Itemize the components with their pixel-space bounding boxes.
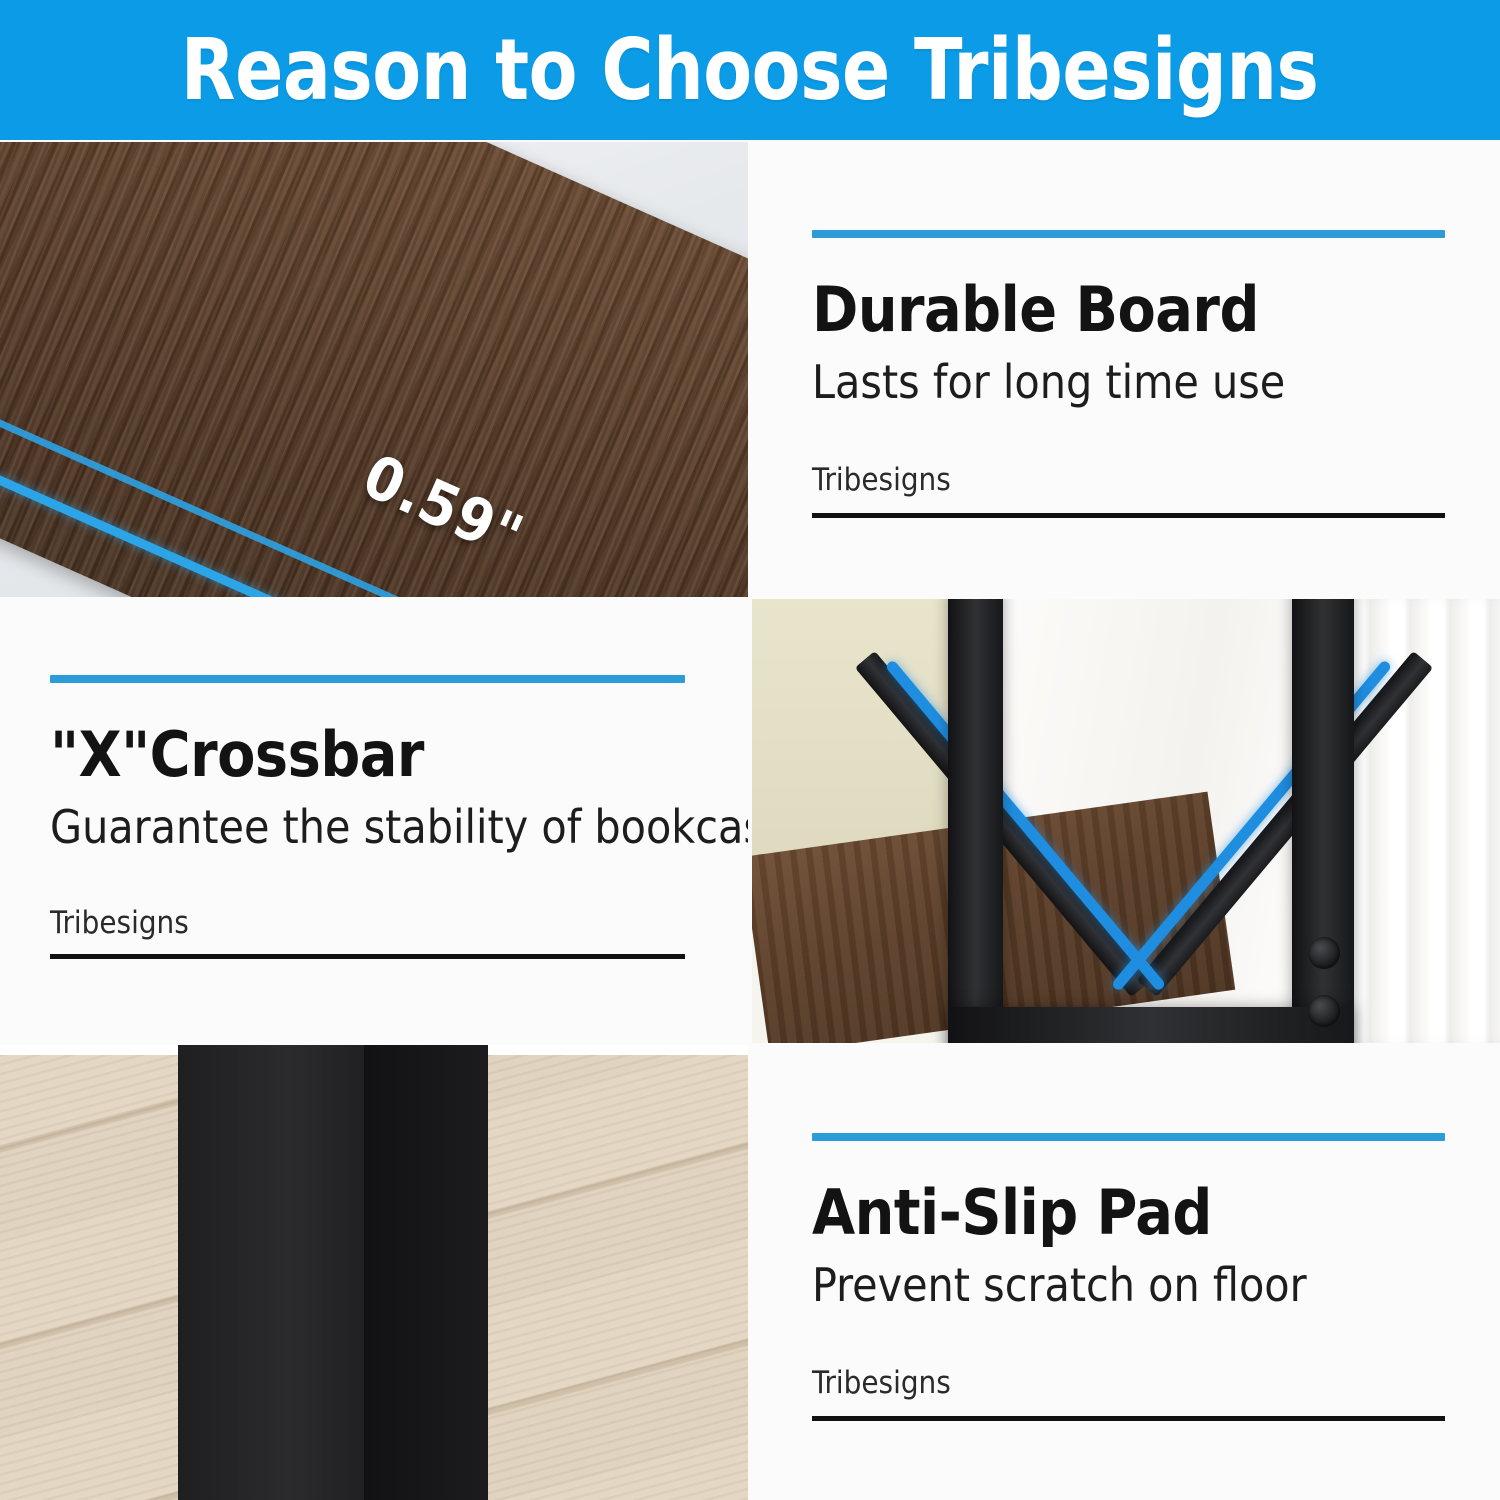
accent-rule-top [812,1133,1445,1141]
photo-board-scene: 0.59" [0,142,748,597]
header-banner: Reason to Choose Tribesigns [0,0,1500,140]
divider-rule-bottom [812,1416,1445,1421]
frame-bottom-rail [948,1007,1354,1043]
page-title: Reason to Choose Tribesigns [181,28,1319,113]
brand-label: Tribesigns [812,462,951,498]
board-thickness-photo: 0.59" [0,142,748,597]
bolt-icon [1308,937,1340,969]
divider-rule-bottom [50,954,685,959]
feature-panel-anti-slip-pad: Anti-Slip Pad Prevent scratch on floor T… [752,1045,1500,1500]
leg-face-left [178,1045,364,1500]
feature-subtitle: Lasts for long time use [812,357,1285,408]
feature-panel-durable-board: Durable Board Lasts for long time use Tr… [752,142,1500,597]
feature-heading: Durable Board [812,277,1259,342]
photo-x-scene [752,599,1500,1043]
brand-label: Tribesigns [50,905,189,941]
panel-content: Anti-Slip Pad Prevent scratch on floor T… [752,1045,1500,1500]
panel-content: "X"Crossbar Guarantee the stability of b… [0,599,748,1043]
anti-slip-pad-photo [0,1045,748,1500]
panel-content: Durable Board Lasts for long time use Tr… [752,142,1500,597]
feature-heading: Anti-Slip Pad [812,1180,1212,1245]
feature-heading: "X"Crossbar [50,722,424,787]
x-crossbar-photo [752,599,1500,1043]
feature-panel-x-crossbar: "X"Crossbar Guarantee the stability of b… [0,599,748,1043]
leg-face-right [364,1045,488,1500]
infographic-page: Reason to Choose Tribesigns 0.59" Durabl… [0,0,1500,1500]
accent-rule-top [50,675,685,683]
feature-subtitle: Prevent scratch on floor [812,1260,1307,1311]
frame-post-left [948,599,1003,1043]
feature-subtitle: Guarantee the stability of bookcase [50,802,748,853]
brand-label: Tribesigns [812,1365,951,1401]
bolt-icon [1308,995,1340,1027]
divider-rule-bottom [812,513,1445,518]
accent-rule-top [812,230,1445,238]
photo-pad-scene [0,1045,748,1500]
frame-post-right [1292,599,1354,1043]
furniture-leg [178,1045,488,1500]
